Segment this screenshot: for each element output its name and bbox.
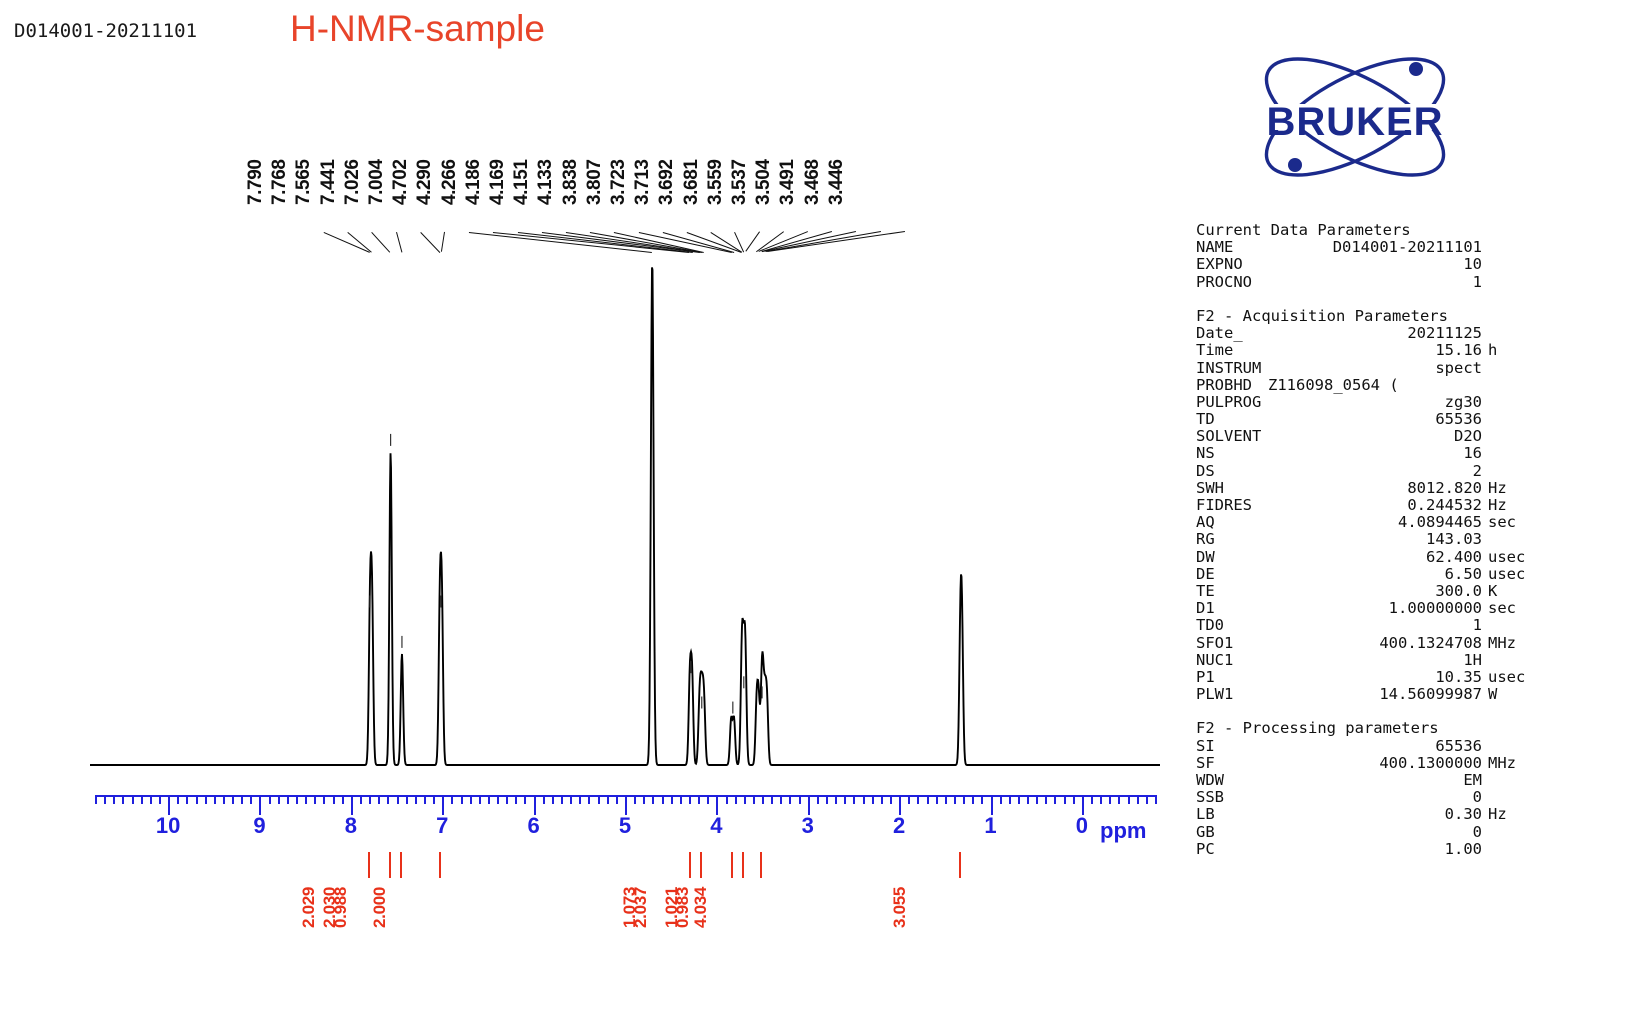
axis-tick-major	[1082, 795, 1084, 815]
parameter-unit: Hz	[1488, 497, 1507, 514]
parameter-row: AQ4.0894465sec	[1196, 514, 1636, 531]
integral-bracket	[731, 852, 733, 878]
axis-tick-minor	[570, 795, 572, 804]
axis-tick-minor	[232, 795, 234, 804]
parameter-row: DE6.50usec	[1196, 566, 1636, 583]
parameter-value: 4.0894465	[1196, 514, 1482, 531]
parameter-key: PROBHD	[1196, 377, 1252, 394]
parameter-value: D2O	[1196, 428, 1482, 445]
axis-tick-minor	[278, 795, 280, 804]
axis-tick-minor	[726, 795, 728, 804]
parameter-unit: Hz	[1488, 480, 1507, 497]
parameter-value: 143.03	[1196, 531, 1482, 548]
axis-tick-minor	[150, 795, 152, 804]
axis-tick-minor	[1100, 795, 1102, 804]
axis-tick-minor	[342, 795, 344, 804]
spacer	[1196, 291, 1636, 308]
parameter-row: EXPNO10	[1196, 256, 1636, 273]
current-data-parameters-list: NAMED014001-20211101EXPNO10PROCNO1	[1196, 239, 1636, 291]
integral-bracket	[439, 852, 441, 878]
parameter-value: 65536	[1196, 411, 1482, 428]
axis-tick-label: 7	[436, 813, 448, 839]
axis-tick-minor	[433, 795, 435, 804]
axis-tick-minor	[963, 795, 965, 804]
spacer	[1196, 703, 1636, 720]
parameter-row: SOLVENTD2O	[1196, 428, 1636, 445]
axis-tick-minor	[771, 795, 773, 804]
axis-tick-minor	[214, 795, 216, 804]
axis-tick-minor	[863, 795, 865, 804]
parameter-row: Time15.16h	[1196, 342, 1636, 359]
axis-tick-label: 10	[156, 813, 180, 839]
parameter-row: P110.35usec	[1196, 669, 1636, 686]
bruker-logo: BRUKER	[1240, 52, 1470, 182]
parameter-row: TE300.0K	[1196, 583, 1636, 600]
processing-parameters-list: SI65536SF400.1300000MHzWDWEMSSB0LB0.30Hz…	[1196, 738, 1636, 858]
axis-tick-minor	[552, 795, 554, 804]
bruker-wordmark: BRUKER	[1240, 100, 1470, 145]
parameter-value: 1H	[1196, 652, 1482, 669]
parameter-row: LB0.30Hz	[1196, 806, 1636, 823]
axis-tick-major	[991, 795, 993, 815]
parameter-value: 0.30	[1196, 806, 1482, 823]
axis-tick-minor	[323, 795, 325, 804]
parameter-row: PROCNO1	[1196, 274, 1636, 291]
parameter-value: Z116098_0564 (	[1268, 377, 1399, 394]
integral-bracket	[742, 852, 744, 878]
axis-tick-minor	[662, 795, 664, 804]
axis-tick-minor	[397, 795, 399, 804]
nmr-trace	[0, 0, 1185, 800]
parameter-row: DW62.400usec	[1196, 549, 1636, 566]
integral-bracket	[400, 852, 402, 878]
parameter-value: spect	[1196, 360, 1482, 377]
parameter-unit: usec	[1488, 566, 1525, 583]
axis-tick-minor	[927, 795, 929, 804]
axis-tick-minor	[1027, 795, 1029, 804]
parameter-row: SI65536	[1196, 738, 1636, 755]
axis-tick-minor	[853, 795, 855, 804]
integral-value: 2.000	[372, 887, 434, 928]
axis-tick-minor	[789, 795, 791, 804]
parameter-value: 14.56099987	[1196, 686, 1482, 703]
parameter-value: 6.50	[1196, 566, 1482, 583]
parameter-row: SF400.1300000MHz	[1196, 755, 1636, 772]
axis-tick-minor	[753, 795, 755, 804]
axis-tick-minor	[981, 795, 983, 804]
parameter-value: 300.0	[1196, 583, 1482, 600]
parameter-row: INSTRUMspect	[1196, 360, 1636, 377]
integral-bracket	[689, 852, 691, 878]
section-title-acquisition: F2 - Acquisition Parameters	[1196, 308, 1636, 325]
parameter-row: PLW114.56099987W	[1196, 686, 1636, 703]
parameter-value: 2	[1196, 463, 1482, 480]
axis-tick-minor	[378, 795, 380, 804]
axis-tick-label: 8	[345, 813, 357, 839]
axis-tick-minor	[451, 795, 453, 804]
acquisition-parameters-list: Date_20211125Time15.16hINSTRUMspectPROBH…	[1196, 325, 1636, 703]
parameter-value: 1.00000000	[1196, 600, 1482, 617]
axis-tick-minor	[1036, 795, 1038, 804]
parameter-value: 10.35	[1196, 669, 1482, 686]
axis-tick-minor	[1018, 795, 1020, 804]
axis-tick-minor	[1009, 795, 1011, 804]
axis-tick-minor	[881, 795, 883, 804]
axis-tick-minor	[479, 795, 481, 804]
integral-layer: 2.0292.0300.9882.0001.0732.0371.0210.983…	[0, 852, 1185, 962]
axis-tick-minor	[1128, 795, 1130, 804]
axis-unit-label: ppm	[1100, 818, 1146, 844]
integral-value: 4.034	[693, 887, 755, 928]
axis-tick-major	[168, 795, 170, 815]
axis-tick-minor	[223, 795, 225, 804]
axis-tick-minor	[1109, 795, 1111, 804]
axis-tick-minor	[780, 795, 782, 804]
axis-tick-minor	[205, 795, 207, 804]
axis-tick-minor	[424, 795, 426, 804]
axis-tick-label: 0	[1076, 813, 1088, 839]
parameter-value: 400.1324708	[1196, 635, 1482, 652]
parameter-row: NS16	[1196, 445, 1636, 462]
axis-tick-minor	[415, 795, 417, 804]
integral-bracket	[389, 852, 391, 878]
axis-tick-label: 4	[710, 813, 722, 839]
axis-tick-major	[625, 795, 627, 815]
axis-tick-minor	[634, 795, 636, 804]
axis-tick-minor	[890, 795, 892, 804]
axis-tick-minor	[1054, 795, 1056, 804]
axis-tick-minor	[387, 795, 389, 804]
axis-tick-minor	[588, 795, 590, 804]
axis-tick-minor	[360, 795, 362, 804]
parameter-value: 1	[1196, 274, 1482, 291]
parameter-unit: K	[1488, 583, 1497, 600]
axis-tick-minor	[607, 795, 609, 804]
axis-tick-minor	[241, 795, 243, 804]
integral-bracket	[959, 852, 961, 878]
axis-tick-minor	[835, 795, 837, 804]
spectrum-curve	[90, 267, 1160, 765]
parameter-unit: MHz	[1488, 755, 1516, 772]
parameter-value: 65536	[1196, 738, 1482, 755]
axis-tick-minor	[369, 795, 371, 804]
axis-tick-minor	[488, 795, 490, 804]
parameter-unit: W	[1488, 686, 1497, 703]
axis-tick-minor	[406, 795, 408, 804]
axis-tick-label: 5	[619, 813, 631, 839]
axis-tick-label: 3	[802, 813, 814, 839]
parameter-unit: Hz	[1488, 806, 1507, 823]
parameter-value: 20211125	[1196, 325, 1482, 342]
axis-tick-minor	[269, 795, 271, 804]
parameter-row: D11.00000000sec	[1196, 600, 1636, 617]
parameter-value: 0.244532	[1196, 497, 1482, 514]
axis-tick-minor	[305, 795, 307, 804]
axis-tick-minor	[1045, 795, 1047, 804]
parameter-row: FIDRES0.244532Hz	[1196, 497, 1636, 514]
parameter-value: 1.00	[1196, 841, 1482, 858]
axis-tick-minor	[196, 795, 198, 804]
axis-tick-minor	[908, 795, 910, 804]
axis-tick-minor	[314, 795, 316, 804]
parameter-row: GB0	[1196, 824, 1636, 841]
axis-tick-minor	[1146, 795, 1148, 804]
axis-tick-minor	[643, 795, 645, 804]
parameter-row: SSB0	[1196, 789, 1636, 806]
parameter-row: NAMED014001-20211101	[1196, 239, 1636, 256]
axis-tick-minor	[296, 795, 298, 804]
axis-tick-minor	[698, 795, 700, 804]
axis-tick-minor	[506, 795, 508, 804]
axis-tick-minor	[917, 795, 919, 804]
parameter-unit: sec	[1488, 600, 1516, 617]
parameter-row: SWH8012.820Hz	[1196, 480, 1636, 497]
axis-tick-minor	[515, 795, 517, 804]
axis-tick-minor	[799, 795, 801, 804]
axis-tick-minor	[250, 795, 252, 804]
axis-tick-minor	[113, 795, 115, 804]
axis-tick-label: 6	[527, 813, 539, 839]
parameter-value: 1	[1196, 617, 1482, 634]
parameter-row: PULPROGzg30	[1196, 394, 1636, 411]
axis-tick-minor	[817, 795, 819, 804]
axis-tick-minor	[689, 795, 691, 804]
axis-tick-minor	[1137, 795, 1139, 804]
parameter-value: 400.1300000	[1196, 755, 1482, 772]
axis-tick-minor	[945, 795, 947, 804]
axis-tick-minor	[598, 795, 600, 804]
parameter-row: PROBHDZ116098_0564 (	[1196, 377, 1636, 394]
parameter-value: 62.400	[1196, 549, 1482, 566]
axis-tick-minor	[461, 795, 463, 804]
axis-tick-minor	[707, 795, 709, 804]
axis-tick-minor	[497, 795, 499, 804]
parameter-value: 16	[1196, 445, 1482, 462]
parameter-value: zg30	[1196, 394, 1482, 411]
axis-tick-minor	[287, 795, 289, 804]
axis-tick-minor	[524, 795, 526, 804]
axis-tick-minor	[470, 795, 472, 804]
axis-tick-minor	[844, 795, 846, 804]
axis-tick-minor	[1155, 795, 1157, 804]
axis-tick-label: 2	[893, 813, 905, 839]
axis-tick-minor	[122, 795, 124, 804]
integral-bracket	[760, 852, 762, 878]
parameter-row: WDWEM	[1196, 772, 1636, 789]
axis-tick-major	[442, 795, 444, 815]
parameter-unit: usec	[1488, 549, 1525, 566]
axis-tick-minor	[1073, 795, 1075, 804]
axis-tick-minor	[936, 795, 938, 804]
parameter-panel: Current Data Parameters NAMED014001-2021…	[1196, 222, 1636, 858]
integral-bracket	[700, 852, 702, 878]
parameter-unit: sec	[1488, 514, 1516, 531]
parameter-row: RG143.03	[1196, 531, 1636, 548]
parameter-row: TD01	[1196, 617, 1636, 634]
axis-tick-minor	[826, 795, 828, 804]
axis-tick-label: 9	[253, 813, 265, 839]
parameter-row: PC1.00	[1196, 841, 1636, 858]
parameter-row: Date_20211125	[1196, 325, 1636, 342]
axis-tick-major	[716, 795, 718, 815]
axis-tick-minor	[1091, 795, 1093, 804]
axis-tick-minor	[177, 795, 179, 804]
parameter-value: 0	[1196, 789, 1482, 806]
axis-tick-minor	[561, 795, 563, 804]
section-title-processing: F2 - Processing parameters	[1196, 720, 1636, 737]
axis-tick-minor	[671, 795, 673, 804]
parameter-row: SFO1400.1324708MHz	[1196, 635, 1636, 652]
axis-tick-minor	[616, 795, 618, 804]
axis-tick-minor	[1000, 795, 1002, 804]
axis-tick-minor	[333, 795, 335, 804]
axis-tick-minor	[159, 795, 161, 804]
axis-tick-minor	[680, 795, 682, 804]
axis-tick-major	[534, 795, 536, 815]
axis-tick-minor	[95, 795, 97, 804]
axis-tick-minor	[735, 795, 737, 804]
axis-tick-minor	[132, 795, 134, 804]
parameter-value: 10	[1196, 256, 1482, 273]
axis-tick-minor	[652, 795, 654, 804]
parameter-row: NUC11H	[1196, 652, 1636, 669]
parameter-unit: h	[1488, 342, 1497, 359]
axis-tick-label: 1	[984, 813, 996, 839]
parameter-value: 0	[1196, 824, 1482, 841]
axis-tick-minor	[543, 795, 545, 804]
parameter-value: D014001-20211101	[1196, 239, 1482, 256]
axis-tick-minor	[1064, 795, 1066, 804]
axis-tick-minor	[186, 795, 188, 804]
parameter-value: 8012.820	[1196, 480, 1482, 497]
integral-value: 3.055	[892, 887, 954, 928]
axis-tick-minor	[744, 795, 746, 804]
parameter-value: 15.16	[1196, 342, 1482, 359]
parameter-unit: usec	[1488, 669, 1525, 686]
parameter-unit: MHz	[1488, 635, 1516, 652]
axis-tick-minor	[141, 795, 143, 804]
axis-tick-major	[351, 795, 353, 815]
parameter-value: EM	[1196, 772, 1482, 789]
axis-tick-major	[899, 795, 901, 815]
axis-tick-minor	[972, 795, 974, 804]
integral-bracket	[368, 852, 370, 878]
axis-tick-minor	[104, 795, 106, 804]
axis-tick-major	[259, 795, 261, 815]
axis-tick-major	[808, 795, 810, 815]
axis-tick-minor	[954, 795, 956, 804]
axis-tick-minor	[1118, 795, 1120, 804]
axis-tick-minor	[579, 795, 581, 804]
parameter-row: TD65536	[1196, 411, 1636, 428]
parameter-row: DS2	[1196, 463, 1636, 480]
axis-tick-minor	[762, 795, 764, 804]
section-title-current-data: Current Data Parameters	[1196, 222, 1636, 239]
axis-tick-minor	[872, 795, 874, 804]
